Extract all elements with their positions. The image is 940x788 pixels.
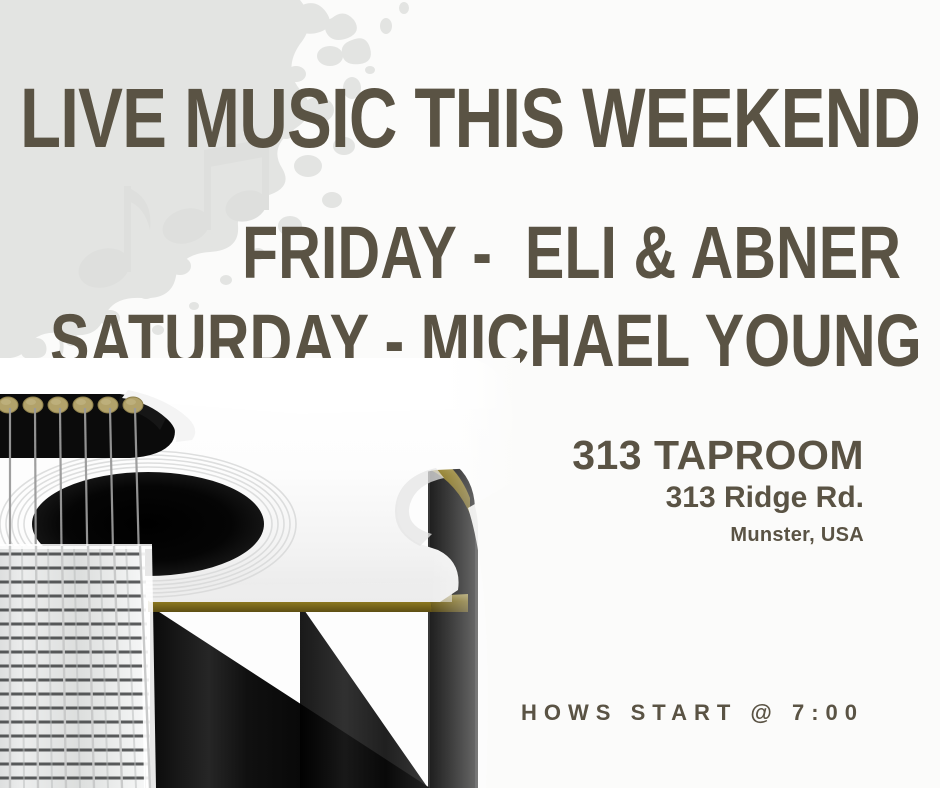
page-title: LIVE MUSIC THIS WEEKEND: [20, 76, 740, 160]
showtime-text: SHOWS START @ 7:00: [444, 700, 864, 726]
venue-city: Munster, USA: [444, 518, 864, 552]
lineup-friday: FRIDAY - ELI & ABNER: [242, 216, 901, 290]
guitar-photo: [0, 358, 520, 788]
venue-street: 313 Ridge Rd.: [444, 478, 864, 518]
venue-block: 313 TAPROOM 313 Ridge Rd. Munster, USA: [444, 432, 864, 552]
poster-canvas: 𝄞 LIVE MUSIC THIS WEEKEND FRIDAY - ELI &…: [0, 0, 940, 788]
lineup-saturday: SATURDAY - MICHAEL YOUNG: [50, 304, 922, 378]
venue-name: 313 TAPROOM: [444, 432, 864, 478]
